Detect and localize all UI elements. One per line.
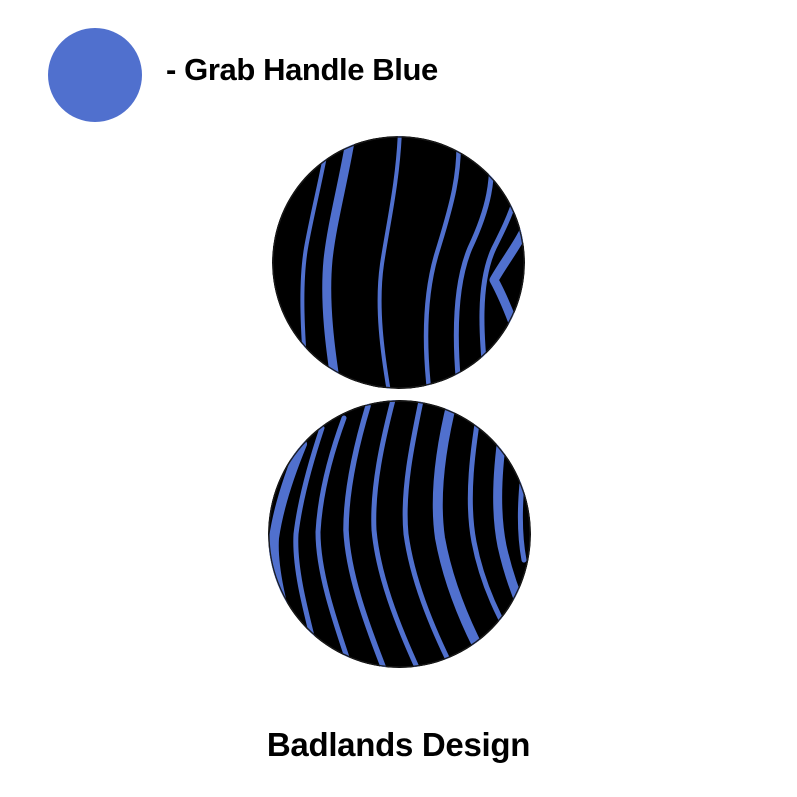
brand-title: Badlands Design bbox=[0, 726, 797, 764]
topographic-disc-bottom bbox=[268, 400, 531, 668]
topographic-disc-bottom-graphic bbox=[268, 400, 531, 668]
color-swatch-label: - Grab Handle Blue bbox=[166, 52, 438, 88]
color-swatch-circle bbox=[48, 28, 142, 122]
topographic-disc-top-graphic bbox=[272, 136, 525, 389]
topographic-disc-top bbox=[272, 136, 525, 389]
color-swatch-header: - Grab Handle Blue bbox=[0, 24, 797, 124]
swatch-reference-card: - Grab Handle Blue Badl bbox=[0, 0, 797, 797]
